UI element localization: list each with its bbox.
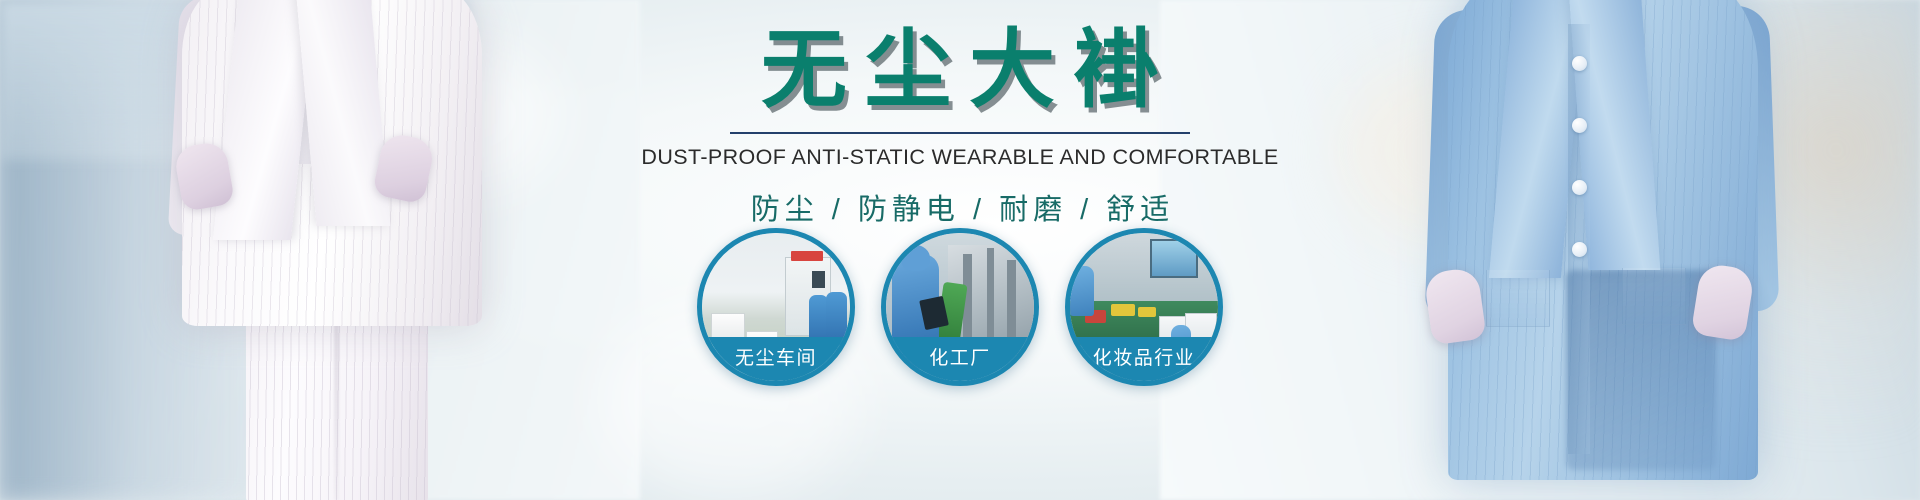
left-model-white-cleanroom-suit bbox=[130, 0, 550, 500]
cleanroom-control-panel-icon bbox=[812, 271, 825, 287]
subtitle-chinese-features: 防尘 / 防静电 / 耐磨 / 舒适 bbox=[610, 186, 1310, 228]
right-model-button-3 bbox=[1572, 180, 1587, 195]
cosmetics-tray-2 bbox=[1138, 307, 1156, 317]
badge-cleanroom-workshop[interactable]: 无尘车间 bbox=[697, 228, 855, 386]
right-model-button-2 bbox=[1572, 118, 1587, 133]
chemical-pipe-2 bbox=[987, 248, 994, 346]
badge-label-cleanroom-workshop: 无尘车间 bbox=[702, 337, 850, 381]
badge-cosmetics-industry[interactable]: 化妆品行业 bbox=[1065, 228, 1223, 386]
chemical-pipe-3 bbox=[1007, 260, 1016, 346]
right-model-button-1 bbox=[1572, 56, 1587, 71]
cleanroom-red-sign-icon bbox=[791, 251, 824, 261]
right-model-pocket-right bbox=[1622, 268, 1686, 325]
right-model-button-4 bbox=[1572, 242, 1587, 257]
badge-label-cosmetics-industry: 化妆品行业 bbox=[1070, 337, 1218, 381]
cosmetics-worker-1 bbox=[1070, 266, 1094, 316]
subtitle-english: DUST-PROOF ANTI-STATIC WEARABLE AND COMF… bbox=[610, 145, 1310, 170]
banner-text-block: 无尘大褂 DUST-PROOF ANTI-STATIC WEARABLE AND… bbox=[610, 22, 1310, 228]
product-banner: 无尘大褂 DUST-PROOF ANTI-STATIC WEARABLE AND… bbox=[0, 0, 1920, 500]
right-model-blue-lab-coat bbox=[1390, 0, 1810, 500]
chemical-worker-hood-icon bbox=[901, 245, 931, 272]
cosmetics-monitor-icon bbox=[1150, 239, 1198, 279]
badge-chemical-plant[interactable]: 化工厂 bbox=[881, 228, 1039, 386]
application-badges: 无尘车间 化工厂 bbox=[697, 228, 1223, 386]
cosmetics-tray-1 bbox=[1111, 304, 1135, 316]
title-divider bbox=[730, 132, 1190, 134]
right-model-button-placket bbox=[1568, 24, 1590, 454]
page-title: 无尘大褂 bbox=[610, 22, 1310, 118]
right-model-pocket-left bbox=[1486, 270, 1550, 327]
badge-label-chemical-plant: 化工厂 bbox=[886, 337, 1034, 381]
